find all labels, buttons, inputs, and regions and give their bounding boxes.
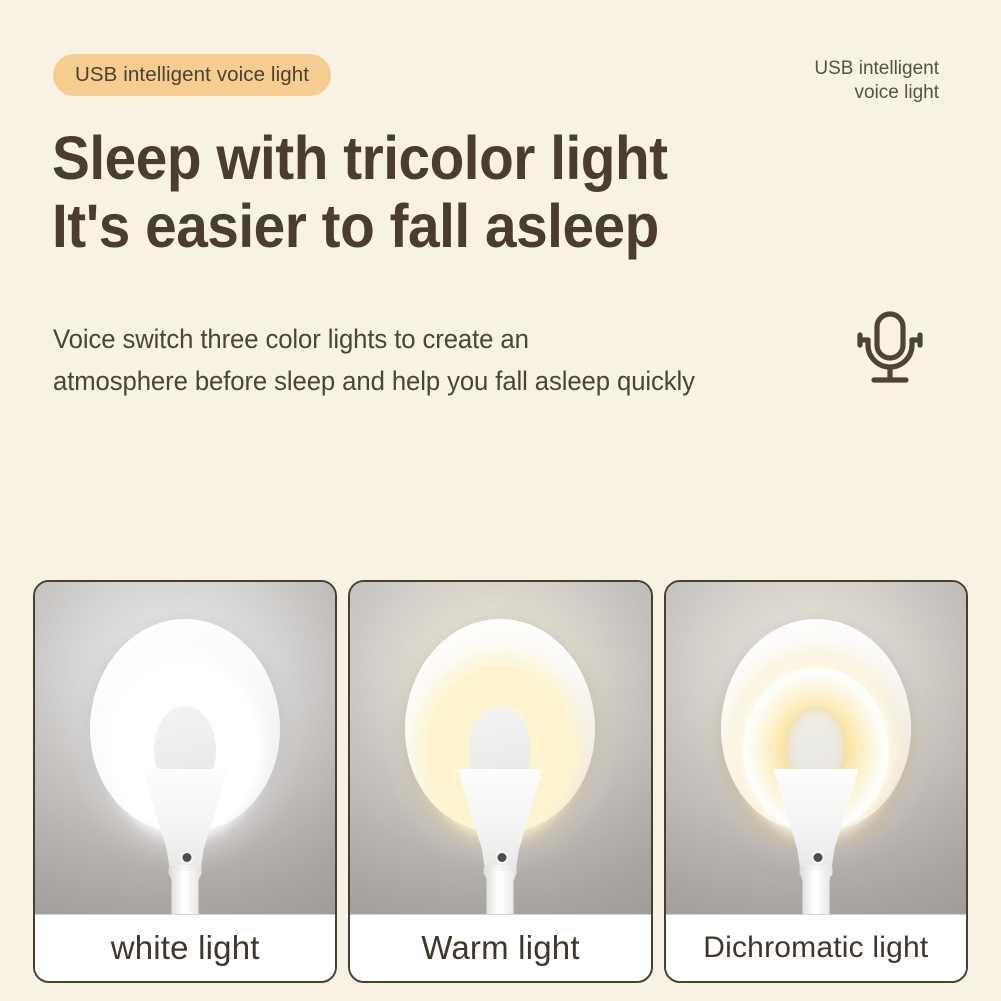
lamp-stem: [802, 871, 829, 914]
ring-lamp: [82, 619, 288, 914]
microphone-icon: [848, 306, 932, 390]
ring-lamp: [713, 619, 919, 914]
lamp-stem: [172, 871, 199, 914]
top-row: USB intelligent voice light USB intellig…: [0, 0, 1001, 120]
subcopy-line-2: atmosphere before sleep and help you fal…: [53, 360, 695, 402]
product-photo-warm-light: [350, 582, 650, 914]
subcopy-line-1: Voice switch three color lights to creat…: [53, 318, 695, 360]
voice-sensor-dot: [813, 853, 822, 862]
page-subtitle: Voice switch three color lights to creat…: [53, 318, 695, 402]
ring-lamp: [397, 619, 603, 914]
light-mode-card-white[interactable]: white light: [33, 580, 337, 983]
light-mode-card-dichromatic[interactable]: Dichromatic light: [664, 580, 968, 983]
voice-sensor-dot: [183, 853, 192, 862]
corner-product-label: USB intelligent voice light: [814, 57, 939, 105]
light-mode-gallery: white light Warm light: [33, 580, 968, 983]
light-mode-caption: Dichromatic light: [666, 914, 966, 981]
voice-sensor-dot: [498, 853, 507, 862]
headline-line-2: It's easier to fall asleep: [52, 192, 668, 260]
product-photo-dichromatic-light: [666, 582, 966, 914]
light-mode-caption: Warm light: [350, 914, 650, 981]
page-title: Sleep with tricolor light It's easier to…: [52, 124, 668, 260]
corner-label-line-2: voice light: [814, 81, 939, 105]
lamp-stem: [487, 871, 514, 914]
product-feature-page: USB intelligent voice light USB intellig…: [0, 0, 1001, 1001]
light-mode-caption: white light: [35, 914, 335, 981]
corner-label-line-1: USB intelligent: [814, 57, 939, 81]
light-mode-card-warm[interactable]: Warm light: [348, 580, 652, 983]
product-photo-white-light: [35, 582, 335, 914]
product-badge: USB intelligent voice light: [53, 54, 331, 96]
headline-line-1: Sleep with tricolor light: [52, 124, 668, 192]
